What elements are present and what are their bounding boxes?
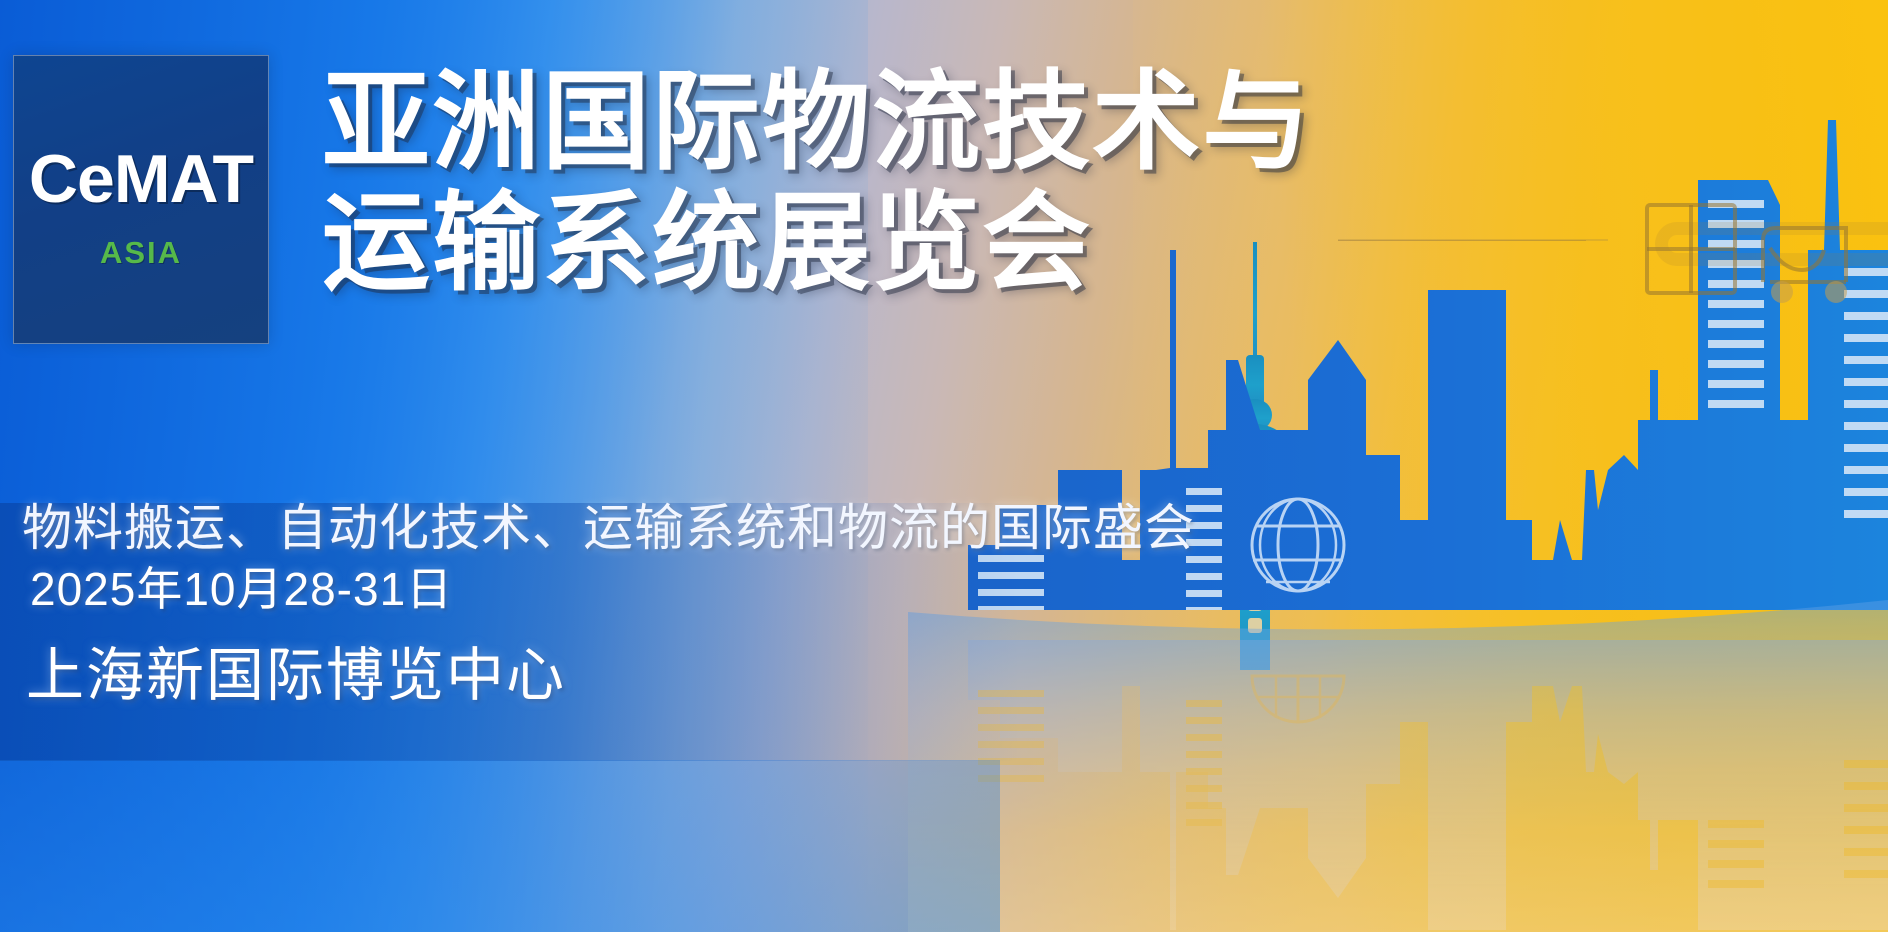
event-date: 2025年10月28-31日 — [30, 553, 453, 619]
cemat-asia-logo: CeMAT ASIA — [13, 55, 269, 344]
decor-track-shape — [1655, 222, 1888, 266]
globe-reflection — [1252, 676, 1344, 722]
logo-wordmark: CeMAT — [29, 145, 253, 213]
globe-icon — [1252, 499, 1344, 591]
page-title-line-2: 运输系统展览会 — [322, 183, 1442, 304]
bottom-blue-band — [0, 760, 1000, 932]
oriental-pearl-tower-icon — [1215, 242, 1295, 670]
event-venue: 上海新国际博览中心 — [26, 628, 566, 712]
logo-region-label: ASIA — [100, 237, 182, 268]
cemat-asia-banner: CeMAT ASIA 亚洲国际物流技术与 运输系统展览会 物料搬运、自动化技术、… — [0, 0, 1888, 932]
page-subtitle: 物料搬运、自动化技术、运输系统和物流的国际盛会 — [22, 488, 1195, 560]
page-title: 亚洲国际物流技术与 运输系统展览会 — [322, 62, 1442, 304]
skyline-reflection — [908, 640, 1888, 930]
page-title-line-1: 亚洲国际物流技术与 — [322, 62, 1442, 183]
